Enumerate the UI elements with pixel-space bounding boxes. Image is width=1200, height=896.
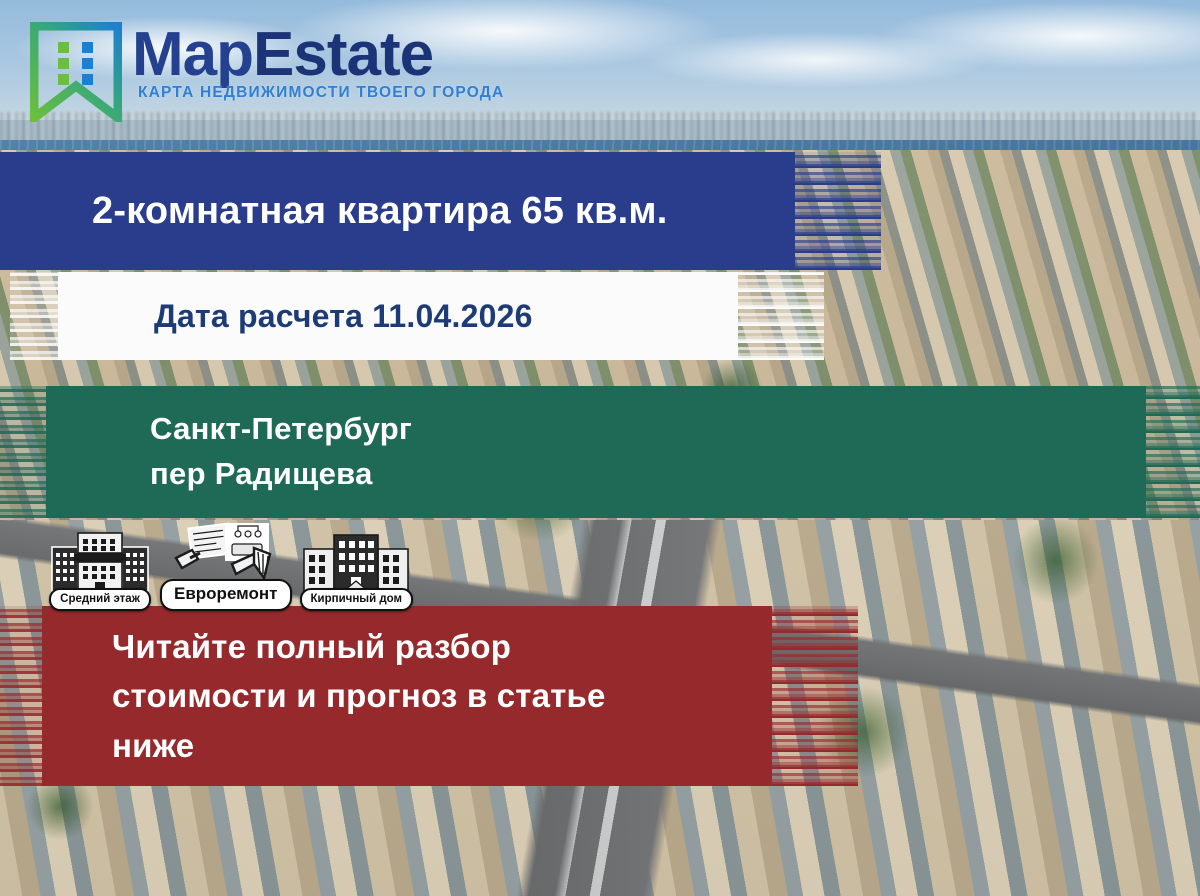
brand-tagline: КАРТА НЕДВИЖИМОСТИ ТВОЕГО ГОРОДА <box>138 84 504 102</box>
title-band-brush-edge <box>795 152 881 270</box>
badge-label: Средний этаж <box>49 588 151 611</box>
address-band: Санкт-Петербург пер Радищева <box>46 386 1146 518</box>
brand-logo[interactable]: MapEstate КАРТА НЕДВИЖИМОСТИ ТВОЕГО ГОРО… <box>30 22 433 122</box>
calculation-date: Дата расчета 11.04.2026 <box>58 298 738 335</box>
address-city: Санкт-Петербург <box>46 407 1146 452</box>
badge-mid-floor[interactable]: Средний этаж <box>48 527 152 611</box>
building-bookmark-logo-icon <box>30 22 122 122</box>
badge-label: Евроремонт <box>160 579 292 611</box>
renovation-tools-icon <box>168 518 284 588</box>
cta-line-2: стоимости и прогноз в статье <box>42 671 772 721</box>
brand-name: MapEstate <box>132 26 433 85</box>
badge-brick-house[interactable]: Кирпичный дом <box>300 527 414 611</box>
date-band-brush-left <box>10 272 58 360</box>
feature-badges: Средний этаж <box>48 518 413 611</box>
cta-band: Читайте полный разбор стоимости и прогно… <box>42 606 772 786</box>
brand-wordmark: MapEstate КАРТА НЕДВИЖИМОСТИ ТВОЕГО ГОРО… <box>132 22 433 85</box>
cta-band-brush-left <box>0 606 42 786</box>
cta-line-1: Читайте полный разбор <box>42 622 772 672</box>
date-band: Дата расчета 11.04.2026 <box>58 272 738 360</box>
property-title: 2-комнатная квартира 65 кв.м. <box>0 190 795 233</box>
date-band-brush-edge <box>738 272 824 360</box>
promo-card: MapEstate КАРТА НЕДВИЖИМОСТИ ТВОЕГО ГОРО… <box>0 0 1200 896</box>
address-street: пер Радищева <box>46 452 1146 497</box>
badge-label: Кирпичный дом <box>300 588 414 611</box>
brick-house-icon <box>300 527 412 597</box>
cta-band-brush-edge <box>772 606 858 786</box>
brand-name-part2: Estate <box>253 20 433 89</box>
mid-floor-building-icon <box>48 527 152 597</box>
address-band-brush-left <box>0 386 46 518</box>
title-band: 2-комнатная квартира 65 кв.м. <box>0 152 795 270</box>
brand-name-part1: Map <box>132 20 253 89</box>
badge-renovation[interactable]: Евроремонт <box>160 518 292 611</box>
cta-line-3: ниже <box>42 721 772 771</box>
address-band-brush-edge <box>1146 386 1200 518</box>
